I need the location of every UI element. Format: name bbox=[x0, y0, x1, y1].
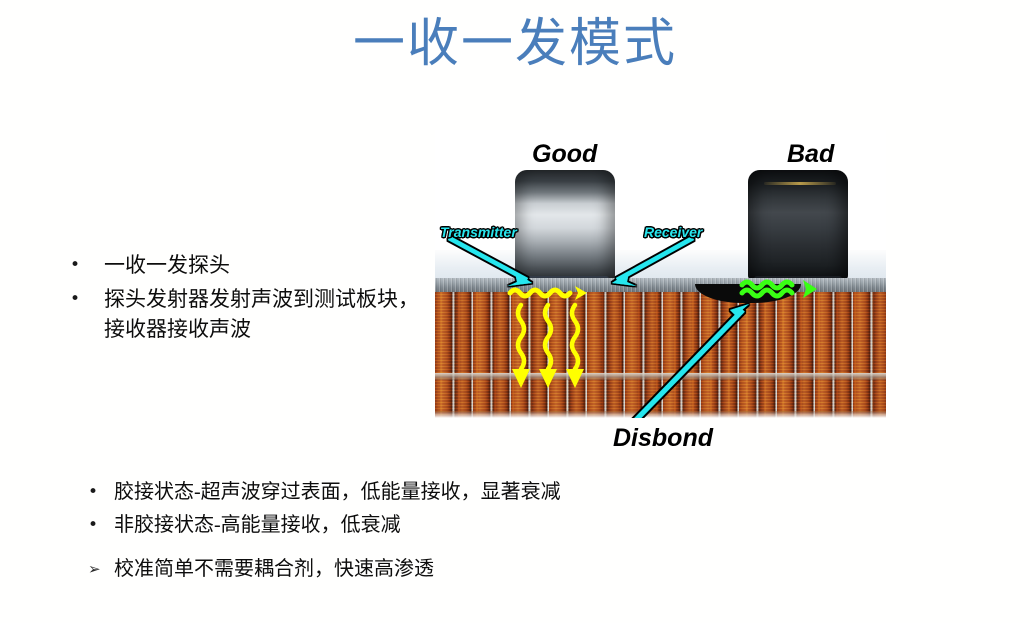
bullet-marker-icon: • bbox=[68, 250, 104, 280]
list-item: • 一收一发探头 bbox=[68, 250, 438, 280]
bullet-text: 探头发射器发射声波到测试板块，接收器接收声波 bbox=[104, 284, 438, 344]
bullet-text: 非胶接状态-高能量接收，低衰减 bbox=[114, 511, 401, 540]
label-good: Good bbox=[532, 140, 597, 169]
transmitter-callout-arrow-icon bbox=[449, 238, 532, 286]
transmitted-surface-wave-good bbox=[510, 286, 587, 300]
list-item: • 探头发射器发射声波到测试板块，接收器接收声波 bbox=[68, 284, 438, 344]
bullet-text: 校准简单不需要耦合剂，快速高渗透 bbox=[114, 555, 434, 584]
surface-wave-bad bbox=[742, 280, 817, 298]
ultrasonic-inspection-photo: Good Bad Transmitter Receiver bbox=[435, 130, 886, 418]
label-transmitter: Transmitter bbox=[440, 224, 517, 240]
list-item: • 非胶接状态-高能量接收，低衰减 bbox=[86, 511, 726, 540]
list-item: ➢ 校准简单不需要耦合剂，快速高渗透 bbox=[86, 555, 726, 584]
bullet-list-lower: • 胶接状态-超声波穿过表面，低能量接收，显著衰减 • 非胶接状态-高能量接收，… bbox=[86, 478, 726, 544]
slide-canvas: 一收一发模式 • 一收一发探头 • 探头发射器发射声波到测试板块，接收器接收声波… bbox=[0, 0, 1030, 623]
bullet-list-upper: • 一收一发探头 • 探头发射器发射声波到测试板块，接收器接收声波 bbox=[68, 250, 438, 348]
bullet-marker-icon: • bbox=[86, 478, 114, 507]
arrow-bullet-marker-icon: ➢ bbox=[86, 555, 114, 584]
bullet-text: 胶接状态-超声波穿过表面，低能量接收，显著衰减 bbox=[114, 478, 561, 507]
penetrating-wave-arrows-good bbox=[518, 305, 578, 369]
disbond-callout-arrow-icon bbox=[631, 304, 749, 418]
annotation-overlay bbox=[435, 130, 886, 418]
bullet-list-arrow: ➢ 校准简单不需要耦合剂，快速高渗透 bbox=[86, 555, 726, 588]
penetrating-wave-arrowheads-good bbox=[512, 369, 584, 388]
label-receiver: Receiver bbox=[644, 224, 702, 240]
list-item: • 胶接状态-超声波穿过表面，低能量接收，显著衰减 bbox=[86, 478, 726, 507]
label-bad: Bad bbox=[787, 140, 834, 169]
bullet-marker-icon: • bbox=[68, 284, 104, 314]
bullet-text: 一收一发探头 bbox=[104, 250, 230, 280]
label-disbond: Disbond bbox=[613, 424, 713, 453]
receiver-callout-arrow-icon bbox=[612, 238, 693, 286]
page-title: 一收一发模式 bbox=[0, 16, 1030, 73]
bullet-marker-icon: • bbox=[86, 511, 114, 540]
